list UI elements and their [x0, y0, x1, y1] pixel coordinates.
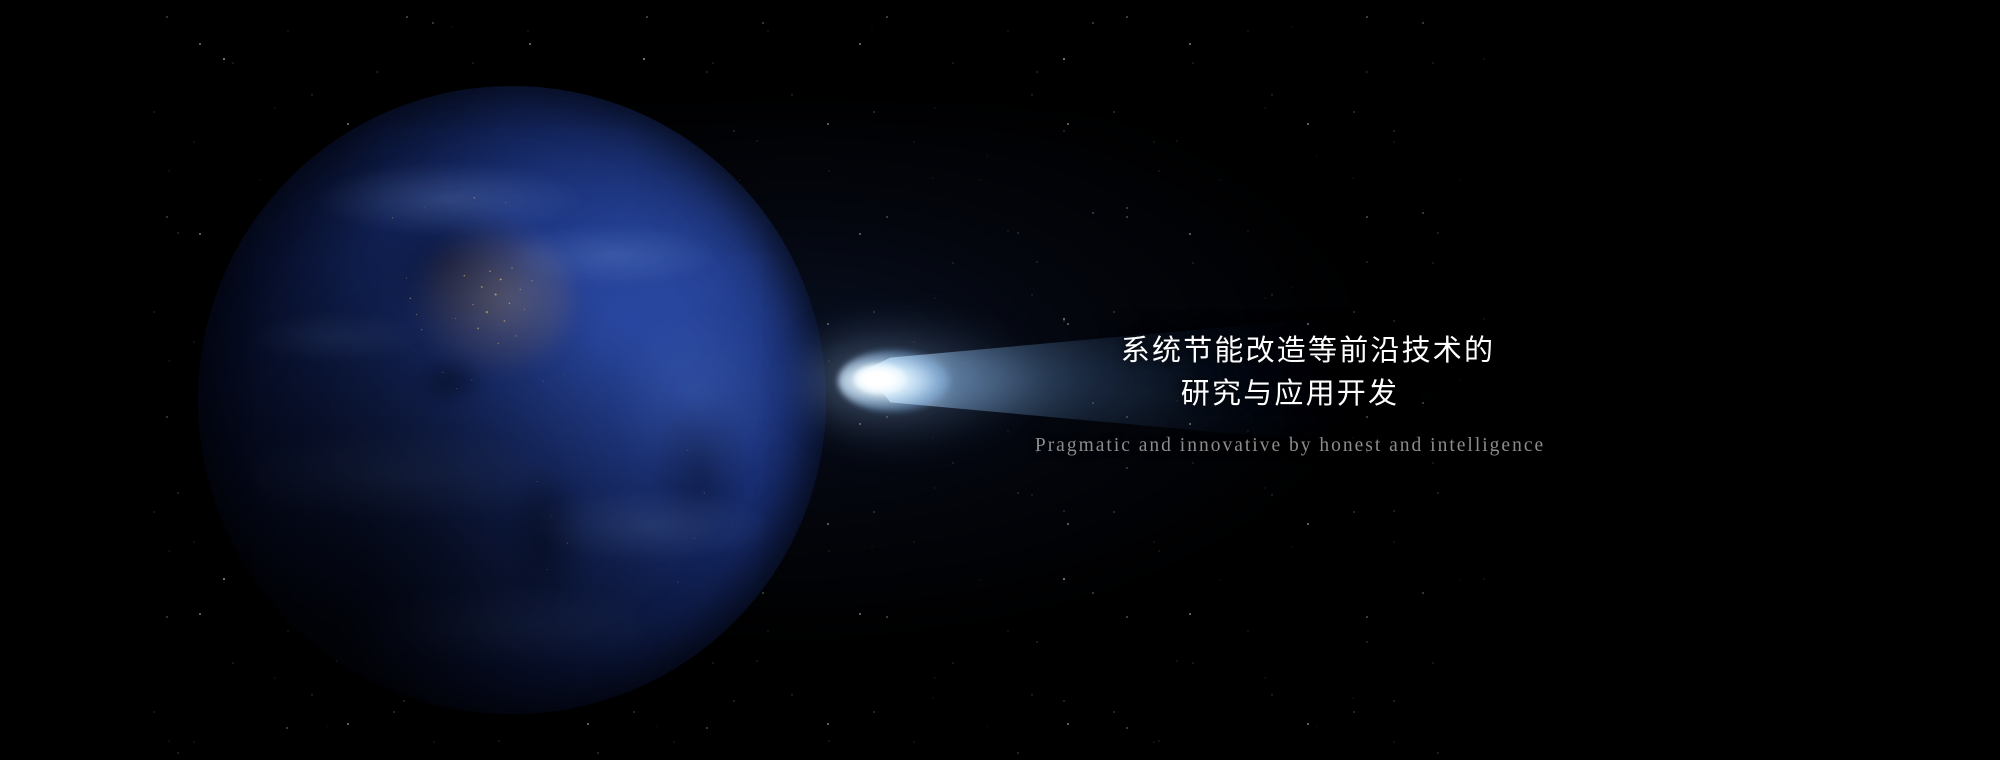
banner-subtitle: Pragmatic and innovative by honest and i… [940, 433, 1640, 459]
earth-globe [198, 86, 826, 714]
banner-headline-line-2: 研究与应用开发 [940, 373, 1640, 416]
earth-atmosphere-rim [197, 85, 827, 715]
banner-headline-line-1: 系统节能改造等前沿技术的 [940, 330, 1640, 373]
hero-banner: 系统节能改造等前沿技术的 研究与应用开发 Pragmatic and innov… [0, 0, 2000, 760]
banner-copy: 系统节能改造等前沿技术的 研究与应用开发 Pragmatic and innov… [940, 330, 1640, 459]
comet-core [854, 364, 906, 394]
